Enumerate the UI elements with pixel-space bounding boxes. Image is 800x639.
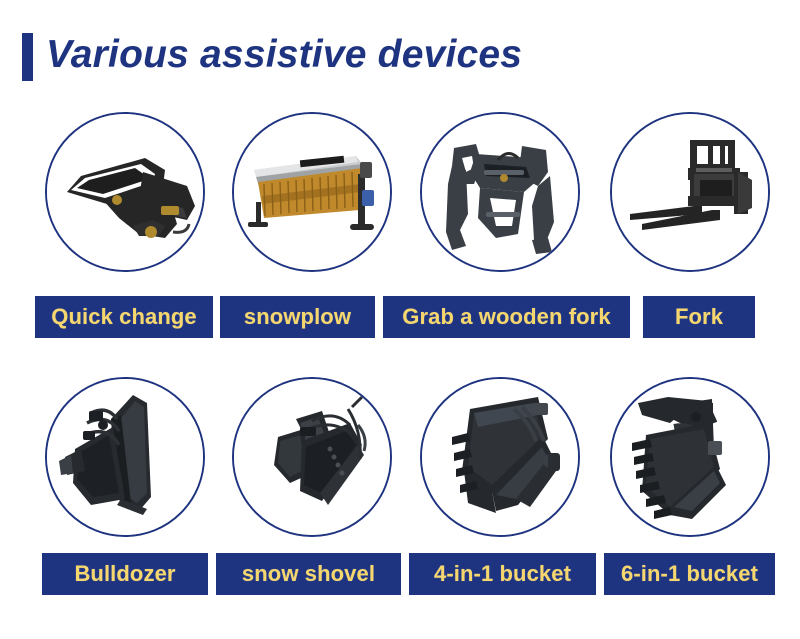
device-row-1: Quick change snowplow Grab a wooden fork… <box>0 112 800 342</box>
device-circle <box>45 377 205 537</box>
six-in-one-bucket-photo <box>612 379 768 535</box>
device-label-row-1: Quick change snowplow Grab a wooden fork… <box>0 296 800 340</box>
title-accent-bar <box>22 33 33 81</box>
page-header: Various assistive devices <box>0 0 800 108</box>
device-card-4-in-1-bucket[interactable] <box>420 377 580 537</box>
device-card-wooden-fork-grapple[interactable] <box>420 112 580 272</box>
device-circle <box>232 112 392 272</box>
quick-change-attachment-photo <box>47 114 203 270</box>
bulldozer-blade-photo <box>47 379 203 535</box>
device-label-fork[interactable]: Fork <box>643 296 755 338</box>
pallet-fork-photo <box>612 114 768 270</box>
device-label-wooden-fork-grapple[interactable]: Grab a wooden fork <box>383 296 630 338</box>
device-circle <box>610 112 770 272</box>
snow-shovel-blade-photo <box>234 379 390 535</box>
device-image-row-2 <box>0 377 800 547</box>
device-circle <box>610 377 770 537</box>
four-in-one-bucket-photo <box>422 379 578 535</box>
device-label-snowplow[interactable]: snowplow <box>220 296 375 338</box>
device-card-snow-shovel[interactable] <box>232 377 392 537</box>
wooden-fork-grapple-photo <box>422 114 578 270</box>
page-title: Various assistive devices <box>46 29 522 81</box>
device-card-6-in-1-bucket[interactable] <box>610 377 770 537</box>
device-image-row-1 <box>0 112 800 282</box>
device-label-4-in-1-bucket[interactable]: 4-in-1 bucket <box>409 553 596 595</box>
device-card-snowplow[interactable] <box>232 112 392 272</box>
device-circle <box>45 112 205 272</box>
device-label-bulldozer[interactable]: Bulldozer <box>42 553 208 595</box>
device-label-quick-change[interactable]: Quick change <box>35 296 213 338</box>
device-card-bulldozer[interactable] <box>45 377 205 537</box>
device-row-2: Bulldozer snow shovel 4-in-1 bucket 6-in… <box>0 377 800 607</box>
device-circle <box>232 377 392 537</box>
device-circle <box>420 377 580 537</box>
device-circle <box>420 112 580 272</box>
device-label-6-in-1-bucket[interactable]: 6-in-1 bucket <box>604 553 775 595</box>
snowplow-broom-photo <box>234 114 390 270</box>
device-label-row-2: Bulldozer snow shovel 4-in-1 bucket 6-in… <box>0 553 800 597</box>
device-card-fork[interactable] <box>610 112 770 272</box>
device-label-snow-shovel[interactable]: snow shovel <box>216 553 401 595</box>
device-card-quick-change[interactable] <box>45 112 205 272</box>
